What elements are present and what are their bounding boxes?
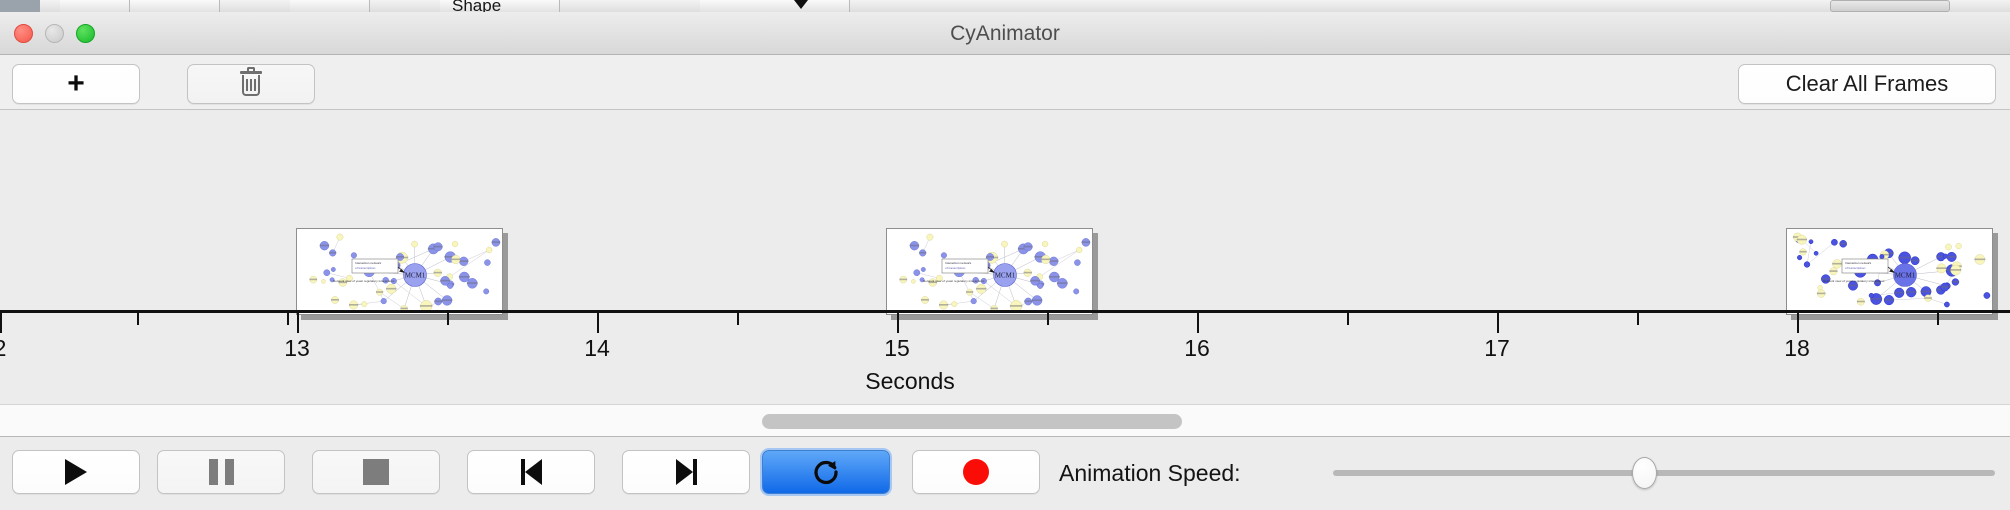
animation-speed-slider[interactable] [1333,470,1995,476]
background-tab [290,0,370,12]
axis-tick-minor [737,313,739,325]
background-windows-strip: Shape [0,0,2010,12]
cyanimator-window: Shape CyAnimator + Clear All Frames MCM1… [0,0,2010,510]
skip-to-end-button[interactable] [622,450,750,494]
background-tab [60,0,130,12]
svg-text:MCM1: MCM1 [995,272,1016,280]
axis-tick-label: 14 [584,335,610,362]
axis-tick-label: 2 [0,335,6,362]
record-button[interactable] [912,450,1040,494]
background-cursor-arrow [794,0,808,9]
axis-tick-label: 17 [1484,335,1510,362]
axis-tick-major [1197,313,1199,333]
axis-tick-minor [1637,313,1639,325]
axis-tick-minor [1347,313,1349,325]
background-dark-block [0,0,40,12]
svg-text:Interaction network: Interaction network [1845,261,1872,265]
timeline-panel[interactable]: MCM1Interaction networkof transcriptionN… [0,110,2010,405]
background-tab [700,0,850,12]
axis-title: Seconds [0,368,2010,395]
clear-all-frames-label: Clear All Frames [1786,71,1949,97]
slider-knob[interactable] [1632,457,1657,489]
play-icon [65,459,87,485]
axis-tick-minor [1047,313,1049,325]
add-frame-button[interactable]: + [12,64,140,104]
background-tab [130,0,220,12]
axis-tick-label: 13 [284,335,310,362]
svg-text:of transcription: of transcription [945,266,966,270]
axis-tick-major [897,313,899,333]
record-icon [963,459,989,485]
svg-text:of transcription: of transcription [355,266,376,270]
svg-text:Network view of yeast regulato: Network view of yeast regulatory interac… [1823,279,1885,283]
delete-frame-button[interactable] [187,64,315,104]
slider-rail [1333,470,1995,476]
skip-to-end-icon [676,459,697,485]
play-button[interactable] [12,450,140,494]
svg-text:Interaction network: Interaction network [945,261,972,265]
axis-tick-minor [1937,313,1939,325]
svg-text:Network view of yeast regulato: Network view of yeast regulatory interac… [923,279,985,283]
svg-text:MCM1: MCM1 [1895,272,1916,280]
loop-icon [811,457,841,487]
axis-tick-major [1497,313,1499,333]
axis-tick-minor [447,313,449,325]
pause-icon [209,459,234,485]
axis-tick-label: 16 [1184,335,1210,362]
window-title: CyAnimator [0,22,2010,46]
frame-thumbnail-2[interactable]: MCM1Interaction networkof transcriptionN… [886,228,1098,320]
timeline-axis-line [0,310,2010,313]
axis-tick-major [1797,313,1799,333]
plus-icon: + [67,69,85,99]
stop-icon [363,459,389,485]
axis-tick-minor [287,313,289,325]
skip-to-start-icon [521,459,542,485]
skip-to-start-button[interactable] [467,450,595,494]
transport-bar: Animation Speed: [0,438,2010,510]
frame-network-preview: MCM1Interaction networkof transcriptionN… [296,228,503,315]
frame-network-preview: MCM1Interaction networkof transcriptionN… [886,228,1093,315]
frame-thumbnail-3[interactable]: MCM1Interaction networkof transcriptionN… [1786,228,1998,320]
timeline-scrollbar-thumb[interactable] [762,414,1182,429]
background-menu-text: Shape [452,0,501,12]
axis-tick-label: 15 [884,335,910,362]
axis-tick-major [297,313,299,333]
trash-icon [240,71,262,97]
axis-tick-major [0,313,2,333]
axis-tick-major [597,313,599,333]
background-panel [1830,0,1950,12]
svg-text:of transcription: of transcription [1845,266,1866,270]
axis-tick-label: 18 [1784,335,1810,362]
toolbar: + Clear All Frames [0,55,2010,110]
svg-text:Network view of yeast regulato: Network view of yeast regulatory interac… [333,279,395,283]
title-bar: CyAnimator [0,12,2010,55]
svg-text:Interaction network: Interaction network [355,261,382,265]
frame-thumbnail-1[interactable]: MCM1Interaction networkof transcriptionN… [296,228,508,320]
frame-network-preview: MCM1Interaction networkof transcriptionN… [1786,228,1993,315]
clear-all-frames-button[interactable]: Clear All Frames [1738,64,1996,104]
axis-tick-minor [137,313,139,325]
animation-speed-label: Animation Speed: [1059,460,1241,487]
pause-button[interactable] [157,450,285,494]
loop-button[interactable] [762,450,890,494]
stop-button[interactable] [312,450,440,494]
timeline-scrollbar-track[interactable] [0,405,2010,437]
svg-text:MCM1: MCM1 [405,272,426,280]
